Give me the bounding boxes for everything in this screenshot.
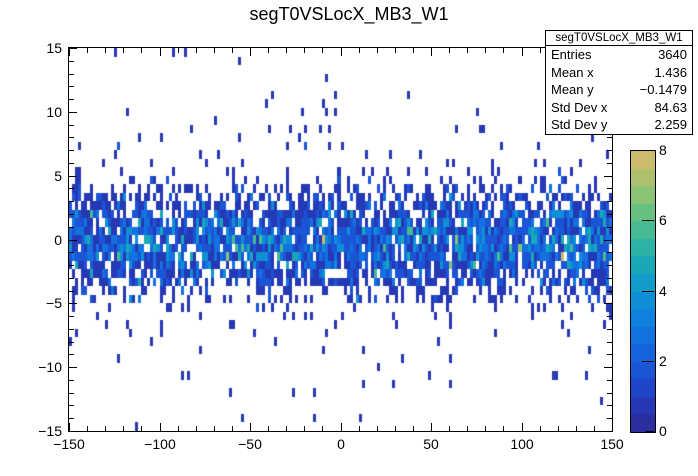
root-canvas: segT0VSLocX_MB3_W1 −150−100−50050100150−… [0,0,698,476]
page-title: segT0VSLocX_MB3_W1 [0,4,698,25]
stats-row-key: Mean x [551,64,594,82]
stats-row: Mean x1.436 [546,64,692,82]
stats-row: Entries3640 [546,46,692,64]
palette-axis: 02468 [630,150,690,433]
stats-row-value: 3640 [658,46,687,64]
x-axis-label: −50 [220,436,280,452]
palette-axis-label: 8 [659,142,667,158]
x-axis-label: 0 [311,436,371,452]
stats-row-value: 2.259 [654,116,687,134]
palette-axis-label: 0 [659,423,667,439]
stats-box[interactable]: segT0VSLocX_MB3_W1 Entries3640Mean x1.43… [545,30,693,135]
stats-row-key: Std Dev x [551,99,607,117]
y-axis-label: 0 [18,232,62,248]
stats-row: Std Dev x84.63 [546,99,692,117]
stats-row: Mean y−0.1479 [546,81,692,99]
y-axis-label: −15 [18,423,62,439]
stats-row: Std Dev y2.259 [546,116,692,134]
x-axis-label: 50 [401,436,461,452]
x-axis-label: 100 [492,436,552,452]
y-axis-label: 10 [18,104,62,120]
y-axis-label: −5 [18,295,62,311]
stats-row-key: Entries [551,46,591,64]
stats-row-key: Mean y [551,81,594,99]
x-axis-label: −150 [39,436,99,452]
stats-box-title: segT0VSLocX_MB3_W1 [546,31,692,46]
stats-row-value: 84.63 [654,99,687,117]
plot-frame[interactable] [68,47,613,432]
palette-axis-label: 2 [659,353,667,369]
x-axis-label: −100 [130,436,190,452]
palette-axis-label: 6 [659,212,667,228]
stats-row-value: −0.1479 [640,81,687,99]
y-axis-label: 15 [18,40,62,56]
palette-tick [646,150,654,151]
stats-row-value: 1.436 [654,64,687,82]
stats-rows: Entries3640Mean x1.436Mean y−0.1479Std D… [546,46,692,134]
stats-row-key: Std Dev y [551,116,607,134]
y-axis-label: 5 [18,168,62,184]
x-axis-label: 150 [582,436,642,452]
palette-tick [646,431,654,432]
palette-tick [642,291,654,292]
y-axis-label: −10 [18,359,62,375]
histogram-bins [69,48,612,431]
palette-axis-label: 4 [659,283,667,299]
palette-tick [642,361,654,362]
palette-tick [642,220,654,221]
